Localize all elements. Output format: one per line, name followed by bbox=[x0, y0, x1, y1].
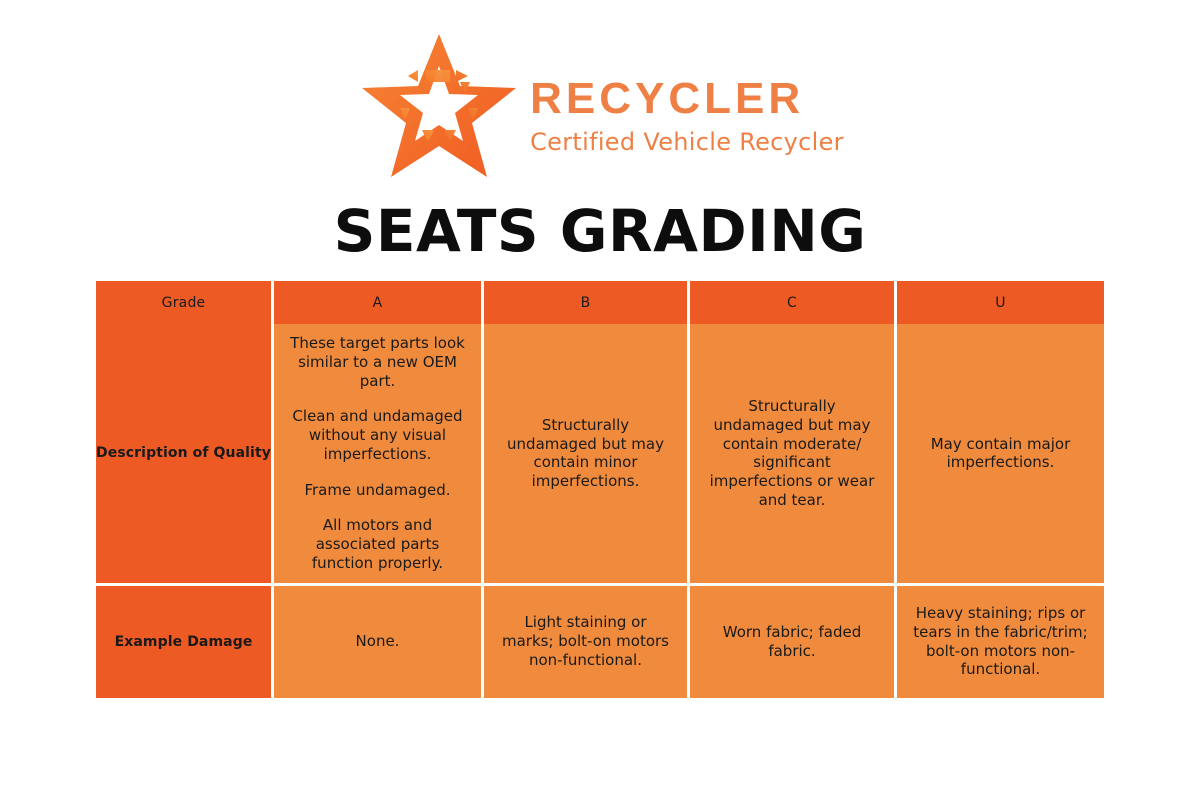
column-header-b: B bbox=[484, 281, 690, 324]
row-label-example-damage: Example Damage bbox=[96, 586, 274, 698]
cell-damage-a: None. bbox=[274, 586, 484, 698]
column-header-u: U bbox=[897, 281, 1104, 324]
cell-paragraph: None. bbox=[288, 632, 467, 651]
cell-damage-u: Heavy staining; rips or tears in the fab… bbox=[897, 586, 1104, 698]
cell-paragraph: Clean and undamaged without any visual i… bbox=[288, 407, 467, 463]
cell-paragraph: These target parts look similar to a new… bbox=[288, 334, 467, 390]
table-header-row: Grade A B C U bbox=[96, 281, 1104, 324]
cell-description-b: Structurally undamaged but may contain m… bbox=[484, 324, 690, 586]
page-title: SEATS GRADING bbox=[0, 197, 1200, 265]
brand-tagline: Certified Vehicle Recycler bbox=[530, 126, 844, 158]
cell-damage-c: Worn fabric; faded fabric. bbox=[690, 586, 897, 698]
cell-paragraph: Frame undamaged. bbox=[288, 481, 467, 500]
cell-paragraph: Heavy staining; rips or tears in the fab… bbox=[911, 604, 1090, 679]
column-header-grade: Grade bbox=[96, 281, 274, 324]
table-header: Grade A B C U bbox=[96, 281, 1104, 324]
seats-grading-infographic: RECYCLER Certified Vehicle Recycler SEAT… bbox=[0, 0, 1200, 800]
cell-paragraph: All motors and associated parts function… bbox=[288, 516, 467, 572]
row-label-description-of-quality: Description of Quality bbox=[96, 324, 274, 586]
recycling-star-logo-icon bbox=[356, 30, 522, 180]
logo-wordmark: RECYCLER Certified Vehicle Recycler bbox=[530, 52, 844, 159]
grading-table: Grade A B C U Description of Quality The… bbox=[96, 281, 1104, 698]
brand-name: RECYCLER bbox=[530, 76, 844, 122]
cell-description-u: May contain major imperfections. bbox=[897, 324, 1104, 586]
cell-paragraph: May contain major imperfections. bbox=[911, 435, 1090, 473]
table-row-example-damage: Example Damage None. Light staining or m… bbox=[96, 586, 1104, 698]
brand-logo: RECYCLER Certified Vehicle Recycler bbox=[0, 30, 1200, 180]
cell-description-c: Structurally undamaged but may contain m… bbox=[690, 324, 897, 586]
cell-description-a: These target parts look similar to a new… bbox=[274, 324, 484, 586]
cell-paragraph: Structurally undamaged but may contain m… bbox=[498, 416, 673, 491]
table-body: Description of Quality These target part… bbox=[96, 324, 1104, 698]
table-row-description-of-quality: Description of Quality These target part… bbox=[96, 324, 1104, 586]
cell-paragraph: Light staining or marks; bolt-on motors … bbox=[498, 613, 673, 669]
cell-paragraph: Structurally undamaged but may contain m… bbox=[704, 397, 880, 510]
column-header-a: A bbox=[274, 281, 484, 324]
column-header-c: C bbox=[690, 281, 897, 324]
cell-paragraph: Worn fabric; faded fabric. bbox=[704, 623, 880, 661]
logo-inner: RECYCLER Certified Vehicle Recycler bbox=[356, 30, 844, 180]
cell-damage-b: Light staining or marks; bolt-on motors … bbox=[484, 586, 690, 698]
